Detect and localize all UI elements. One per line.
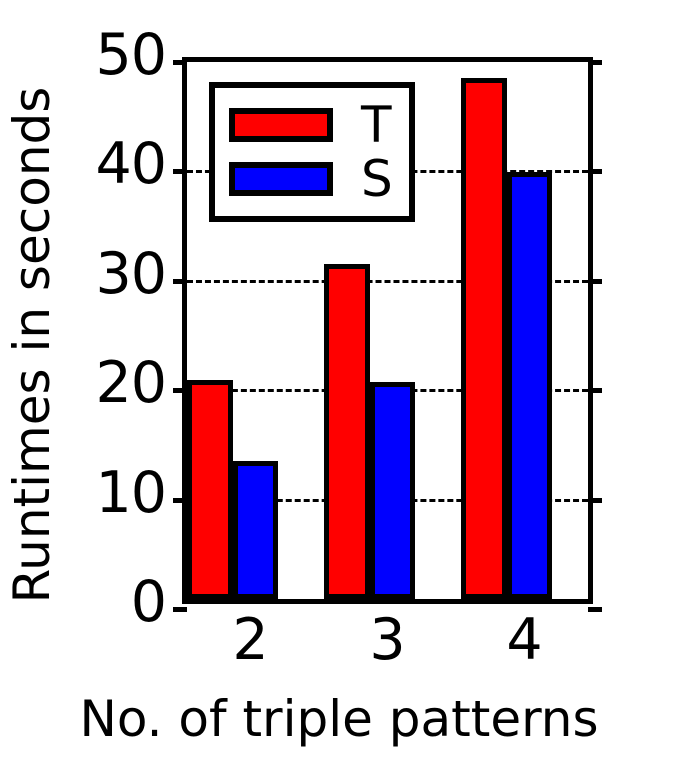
legend-swatch-t	[229, 108, 333, 142]
bar-T-3	[324, 264, 370, 599]
legend-label-t: T	[361, 100, 392, 150]
y-tick-0	[173, 607, 187, 612]
legend-item-t: T	[229, 98, 393, 152]
y-tick-right-10	[588, 498, 602, 503]
legend-item-s: S	[229, 152, 393, 206]
plot-area: T S	[182, 57, 593, 604]
y-tick-right-0	[588, 607, 602, 612]
bar-S-2	[233, 461, 279, 599]
y-axis-title: Runtimes in seconds	[5, 45, 59, 645]
y-tick-right-20	[588, 388, 602, 393]
y-tick-label-10: 10	[95, 465, 166, 522]
y-tick-right-30	[588, 279, 602, 284]
y-tick-right-40	[588, 169, 602, 174]
x-axis-title: No. of triple patterns	[0, 692, 678, 746]
y-tick-10	[173, 498, 187, 503]
y-tick-label-0: 0	[131, 574, 166, 631]
x-tick-label-3: 3	[328, 612, 448, 669]
legend: T S	[209, 82, 415, 222]
y-tick-50	[173, 60, 187, 65]
figure: T S 01020304050 234 Runtimes in seconds …	[0, 0, 678, 780]
y-tick-40	[173, 169, 187, 174]
y-tick-label-30: 30	[95, 246, 166, 303]
x-tick-label-4: 4	[465, 612, 585, 669]
y-tick-label-50: 50	[95, 27, 166, 84]
x-tick-label-2: 2	[191, 612, 311, 669]
y-tick-30	[173, 279, 187, 284]
y-tick-20	[173, 388, 187, 393]
bar-S-3	[370, 382, 416, 599]
legend-swatch-s	[229, 162, 333, 196]
y-tick-label-40: 40	[95, 136, 166, 193]
bar-T-4	[461, 78, 507, 599]
bar-S-4	[507, 172, 553, 599]
bar-T-2	[187, 380, 233, 599]
y-tick-right-50	[588, 60, 602, 65]
legend-label-s: S	[361, 154, 393, 204]
y-tick-label-20: 20	[95, 355, 166, 412]
